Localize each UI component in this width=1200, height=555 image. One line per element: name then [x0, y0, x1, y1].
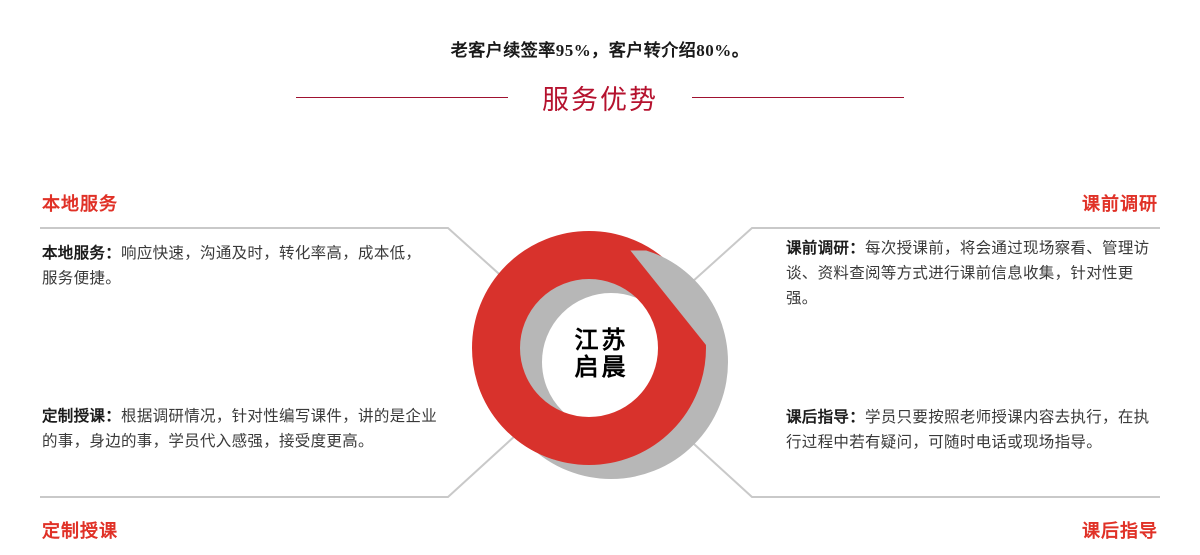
quadrant-label-top-left: 本地服务 — [42, 190, 118, 216]
quadrant-text-top-left: 本地服务：响应快速，沟通及时，转化率高，成本低，服务便捷。 — [42, 241, 434, 291]
quadrant-lead-bottom-right: 课后指导： — [786, 409, 865, 426]
quadrant-text-top-right: 课前调研：每次授课前，将会通过现场察看、管理访谈、资料查阅等方式进行课前信息收集… — [786, 236, 1164, 311]
company-logo: 江苏 启晨 — [470, 225, 730, 485]
page-title: 服务优势 — [542, 78, 658, 117]
heading-rule-left — [296, 97, 508, 99]
quadrant-lead-top-right: 课前调研： — [786, 240, 865, 257]
quadrant-label-bottom-left: 定制授课 — [42, 517, 118, 543]
tagline: 老客户续签率95%，客户转介绍80%。 — [0, 36, 1200, 61]
quadrant-label-top-right: 课前调研 — [1082, 190, 1158, 216]
quadrant-text-bottom-left: 定制授课：根据调研情况，针对性编写课件，讲的是企业的事，身边的事，学员代入感强，… — [42, 404, 442, 454]
heading-rule-right — [692, 97, 904, 99]
quadrant-label-bottom-right: 课后指导 — [1082, 517, 1158, 543]
quadrant-lead-bottom-left: 定制授课： — [42, 408, 121, 425]
quadrant-text-bottom-right: 课后指导：学员只要按照老师授课内容去执行，在执行过程中若有疑问，可随时电话或现场… — [786, 405, 1164, 455]
logo-wordmark: 江苏 启晨 — [470, 225, 730, 485]
logo-line-1: 江苏 — [572, 328, 629, 355]
logo-line-2: 启晨 — [572, 355, 629, 382]
section-heading: 服务优势 — [0, 78, 1200, 117]
quadrant-lead-top-left: 本地服务： — [42, 245, 121, 262]
